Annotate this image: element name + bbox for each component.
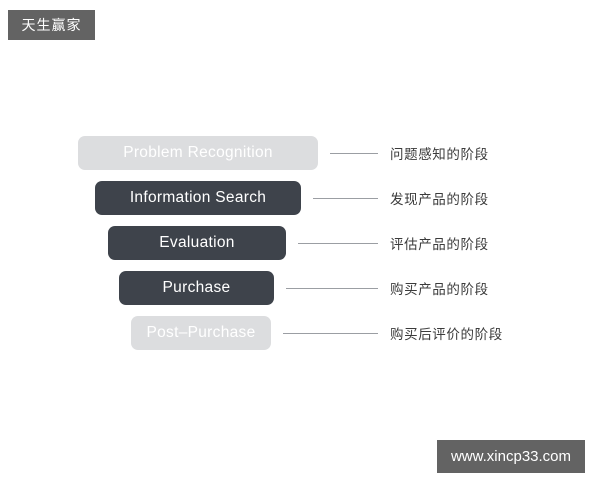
- funnel-stage-row: Problem Recognition 问题感知的阶段: [78, 136, 489, 170]
- funnel-stage-box-problem-recognition: Problem Recognition: [78, 136, 318, 170]
- funnel-stage-description: 购买产品的阶段: [390, 278, 489, 298]
- funnel-connector-line: [330, 153, 378, 154]
- funnel-stage-label: Problem Recognition: [123, 144, 273, 162]
- site-watermark-label: www.xincp33.com: [451, 448, 571, 465]
- funnel-stage-box-purchase: Purchase: [119, 271, 274, 305]
- funnel-stage-box-information-search: Information Search: [95, 181, 301, 215]
- funnel-stage-box-evaluation: Evaluation: [108, 226, 286, 260]
- funnel-stage-description: 发现产品的阶段: [390, 188, 489, 208]
- funnel-stage-label: Purchase: [163, 279, 231, 297]
- funnel-stage-label: Information Search: [130, 189, 266, 207]
- funnel-stage-box-post-purchase: Post–Purchase: [131, 316, 271, 350]
- funnel-connector-line: [313, 198, 378, 199]
- funnel-connector-line: [298, 243, 378, 244]
- consumer-decision-funnel: Problem Recognition 问题感知的阶段 Information …: [0, 0, 600, 480]
- funnel-stage-row: Purchase 购买产品的阶段: [119, 271, 489, 305]
- funnel-stage-row: Post–Purchase 购买后评价的阶段: [131, 316, 503, 350]
- funnel-connector-line: [283, 333, 378, 334]
- site-watermark: www.xincp33.com: [437, 440, 585, 473]
- funnel-stage-description: 评估产品的阶段: [390, 233, 489, 253]
- funnel-connector-line: [286, 288, 378, 289]
- funnel-stage-label: Post–Purchase: [146, 324, 255, 342]
- funnel-stage-description: 购买后评价的阶段: [390, 323, 503, 343]
- funnel-stage-row: Information Search 发现产品的阶段: [95, 181, 489, 215]
- funnel-stage-description: 问题感知的阶段: [390, 143, 489, 163]
- funnel-stage-row: Evaluation 评估产品的阶段: [108, 226, 489, 260]
- funnel-stage-label: Evaluation: [159, 234, 234, 252]
